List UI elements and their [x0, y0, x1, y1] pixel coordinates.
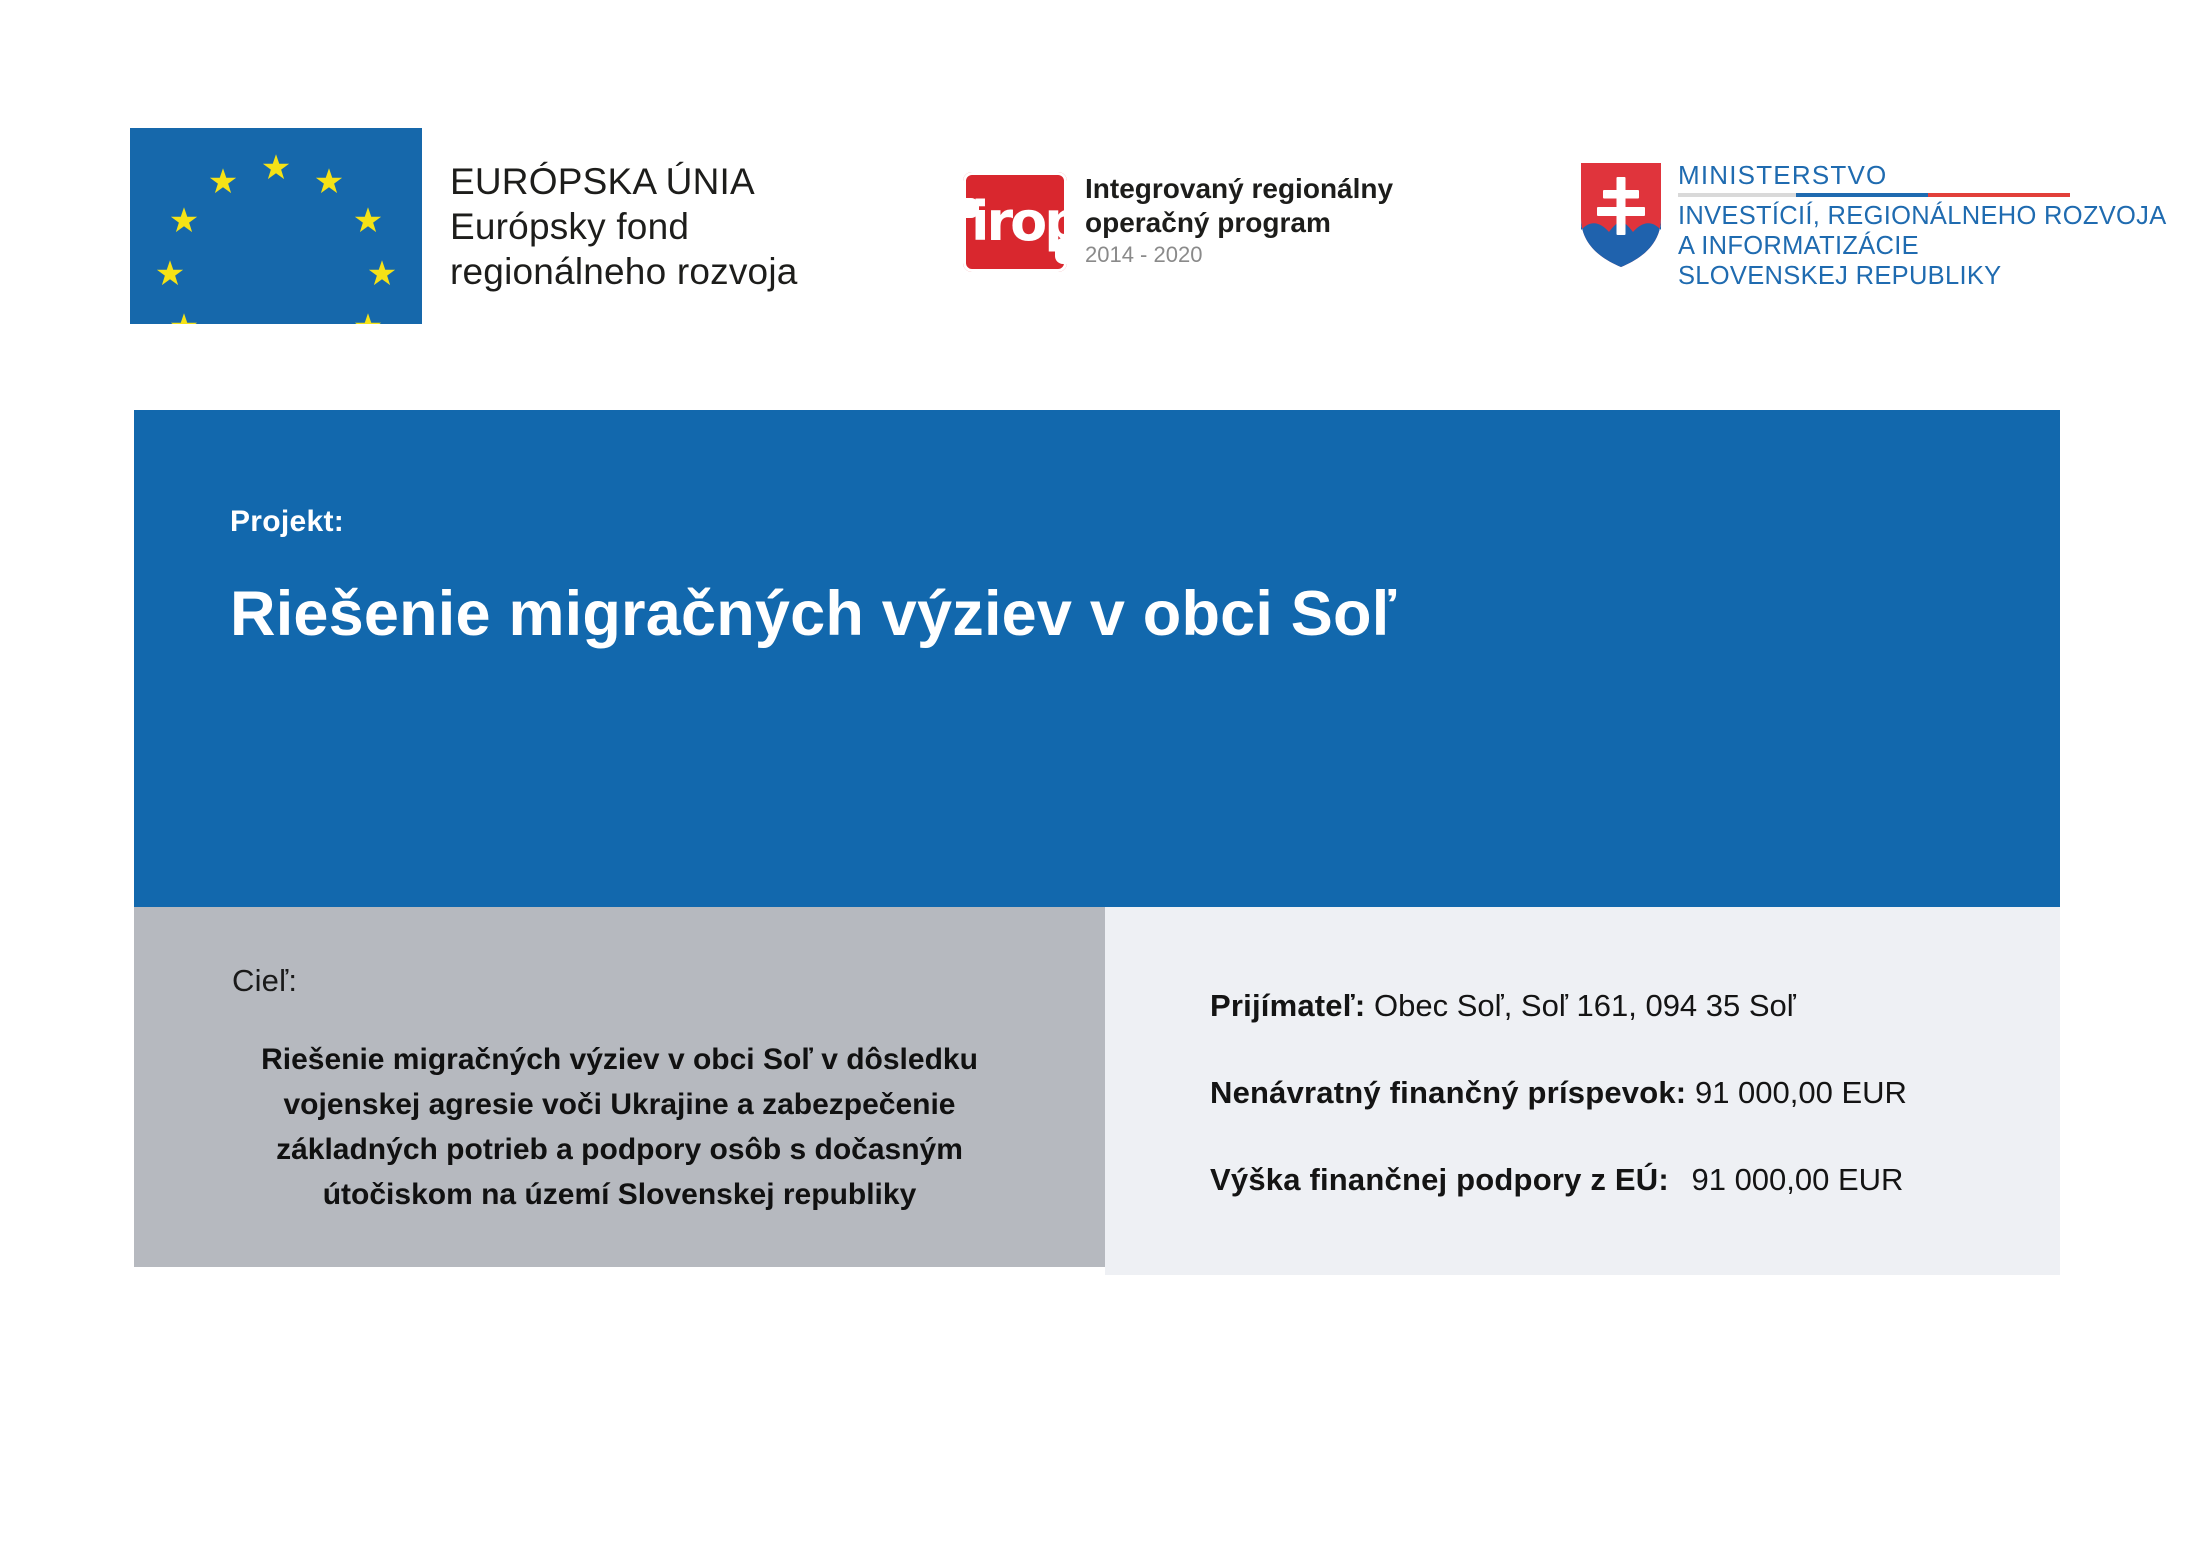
grant-row: Nenávratný finančný príspevok: 91 000,00… — [1210, 1075, 1907, 1111]
grant-value: 91 000,00 EUR — [1695, 1075, 1907, 1110]
goal-panel: Cieľ: Riešenie migračných výziev v obci … — [134, 907, 1105, 1267]
ministry-divider — [1678, 193, 2070, 197]
slovak-coat-of-arms-icon — [1578, 160, 1664, 275]
project-title: Riešenie migračných výziev v obci Soľ — [230, 578, 1396, 650]
grant-label: Nenávratný finančný príspevok: — [1210, 1075, 1686, 1110]
irop-text-line1: Integrovaný regionálny — [1085, 172, 1393, 206]
eu-logo: EURÓPSKA ÚNIA Európsky fond regionálneho… — [130, 128, 798, 324]
goal-text-line4: útočiskom na území Slovenskej republiky — [184, 1172, 1055, 1217]
eu-text-line2: Európsky fond — [450, 204, 798, 249]
goal-text: Riešenie migračných výziev v obci Soľ v … — [134, 1037, 1105, 1217]
goal-text-line2: vojenskej agresie voči Ukrajine a zabezp… — [184, 1082, 1055, 1127]
recipient-row: Prijímateľ: Obec Soľ, Soľ 161, 094 35 So… — [1210, 988, 1796, 1024]
goal-text-line1: Riešenie migračných výziev v obci Soľ v … — [184, 1037, 1055, 1082]
goal-label: Cieľ: — [232, 963, 297, 999]
irop-mark-label: irop — [963, 172, 1067, 272]
eu-support-row: Výška finančnej podpory z EÚ: 91 000,00 … — [1210, 1162, 1903, 1198]
header-logo-strip: EURÓPSKA ÚNIA Európsky fond regionálneho… — [0, 0, 2200, 380]
irop-logo: irop Integrovaný regionálny operačný pro… — [963, 172, 1393, 272]
eu-flag-icon — [130, 128, 422, 324]
eu-text-line3: regionálneho rozvoja — [450, 249, 798, 294]
irop-text-line2: operačný program — [1085, 206, 1393, 240]
project-banner: Projekt: Riešenie migračných výziev v ob… — [134, 410, 2060, 907]
goal-text-line3: základných potrieb a podpory osôb s doča… — [184, 1127, 1055, 1172]
eu-text-line1: EURÓPSKA ÚNIA — [450, 159, 798, 204]
info-panel: Prijímateľ: Obec Soľ, Soľ 161, 094 35 So… — [1105, 907, 2060, 1275]
eu-logo-text: EURÓPSKA ÚNIA Európsky fond regionálneho… — [450, 159, 798, 294]
irop-logo-icon: irop — [963, 172, 1067, 272]
eu-support-label: Výška finančnej podpory z EÚ: — [1210, 1162, 1669, 1197]
eu-support-value: 91 000,00 EUR — [1691, 1162, 1903, 1197]
ministry-text-line3: A INFORMATIZÁCIE — [1678, 231, 2167, 261]
ministry-text-line1: MINISTERSTVO — [1678, 160, 2167, 190]
eu-stars-icon — [130, 128, 422, 324]
irop-logo-text: Integrovaný regionálny operačný program … — [1085, 172, 1393, 270]
ministry-logo-text: MINISTERSTVO INVESTÍCIÍ, REGIONÁLNEHO RO… — [1678, 160, 2167, 291]
project-label: Projekt: — [230, 505, 344, 539]
recipient-label: Prijímateľ: — [1210, 988, 1365, 1023]
ministry-text-line4: SLOVENSKEJ REPUBLIKY — [1678, 261, 2167, 291]
ministry-logo: MINISTERSTVO INVESTÍCIÍ, REGIONÁLNEHO RO… — [1578, 160, 2167, 291]
ministry-text-line2: INVESTÍCIÍ, REGIONÁLNEHO ROZVOJA — [1678, 201, 2167, 231]
irop-text-period: 2014 - 2020 — [1085, 240, 1393, 270]
recipient-value: Obec Soľ, Soľ 161, 094 35 Soľ — [1374, 988, 1796, 1023]
